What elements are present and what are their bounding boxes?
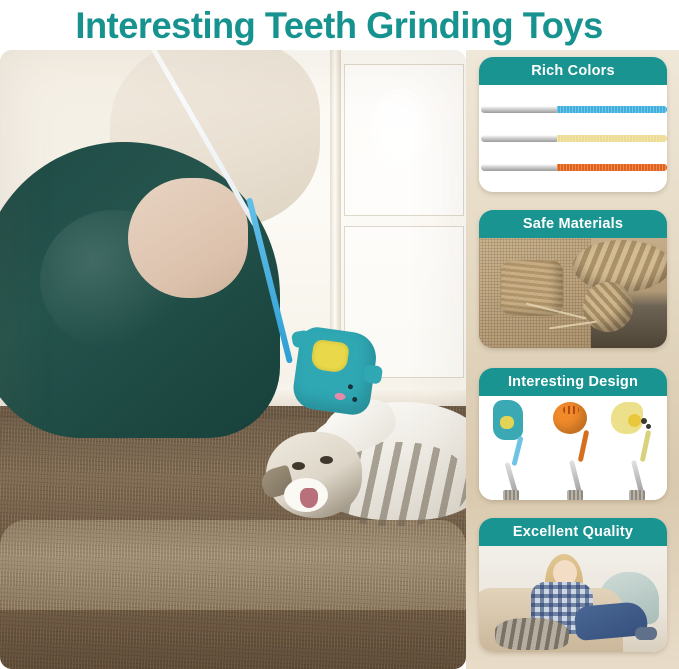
hero-lifestyle-image: [0, 50, 466, 669]
crocodile-belly-patch: [500, 416, 514, 429]
card-header-safe-materials: Safe Materials: [479, 210, 667, 238]
card-body-rich-colors: [479, 85, 667, 192]
yellow-fish-bead-1: [641, 418, 647, 424]
card-header-interesting-design: Interesting Design: [479, 368, 667, 396]
rod-handle-blue: [481, 106, 559, 113]
card-title-rich-colors: Rich Colors: [531, 63, 615, 79]
yellow-fish-patch: [628, 414, 641, 427]
card-title-safe-materials: Safe Materials: [523, 216, 623, 232]
toy-nose: [334, 392, 346, 400]
twine-spool: [501, 260, 563, 316]
toy-lineup: [479, 396, 667, 500]
rod-handle-orange: [481, 164, 559, 171]
color-variant-row-blue: [479, 104, 667, 114]
woman-shoe: [635, 627, 657, 640]
person-arm: [128, 178, 248, 298]
cat-open-mouth: [300, 488, 318, 508]
feature-card-interesting-design[interactable]: Interesting Design: [479, 368, 667, 500]
teal-fish-toy: [291, 325, 380, 417]
crocodile-tassel: [503, 490, 519, 500]
card-title-excellent-quality: Excellent Quality: [513, 524, 633, 540]
card-title-interesting-design: Interesting Design: [508, 374, 638, 390]
yellow-fish-bead-2: [646, 424, 651, 429]
page-title: Interesting Teeth Grinding Toys: [76, 7, 603, 44]
card-body-safe-materials: [479, 238, 667, 348]
lifestyle-photo-woman-with-cat: [479, 546, 667, 652]
card-body-interesting-design: [479, 396, 667, 500]
card-header-rich-colors: Rich Colors: [479, 57, 667, 85]
yellow-fish-tassel: [629, 490, 645, 500]
toy-yellow-belly-patch: [310, 339, 350, 374]
feature-cards-column: Rich Colors Safe Materials: [466, 50, 679, 669]
yellow-fish-wire: [640, 430, 652, 462]
rod-shaft-blue: [557, 106, 667, 113]
twine-ball: [583, 282, 633, 332]
orange-ball-tassel: [567, 490, 583, 500]
rod-handle-yellow: [481, 135, 559, 142]
feature-card-excellent-quality[interactable]: Excellent Quality: [479, 518, 667, 652]
orange-ball-grip: [569, 460, 582, 494]
feature-card-safe-materials[interactable]: Safe Materials: [479, 210, 667, 348]
toy-teal-crocodile: [491, 400, 547, 498]
feature-card-rich-colors[interactable]: Rich Colors: [479, 57, 667, 192]
toy-eye-upper: [348, 384, 354, 390]
cat-eye-left: [292, 462, 305, 470]
rod-shaft-yellow: [557, 135, 667, 142]
orange-ball-wire: [578, 430, 590, 462]
color-variant-row-orange: [479, 162, 667, 172]
grey-tabby-cat: [495, 618, 569, 650]
crocodile-wire: [511, 436, 523, 466]
color-variant-row-yellow: [479, 133, 667, 143]
rod-shaft-orange: [557, 164, 667, 171]
rope-material-photo: [479, 238, 667, 348]
orange-ball-stripes: [563, 406, 579, 414]
card-body-excellent-quality: [479, 546, 667, 652]
page-title-bar: Interesting Teeth Grinding Toys: [0, 0, 679, 50]
toy-orange-ball: [551, 400, 607, 498]
cat-eye-right: [320, 456, 333, 464]
toy-eye-lower: [352, 397, 358, 403]
card-header-excellent-quality: Excellent Quality: [479, 518, 667, 546]
window-glare: [372, 90, 428, 170]
toy-yellow-fish: [611, 400, 667, 498]
yellow-fish-grip: [631, 460, 644, 494]
